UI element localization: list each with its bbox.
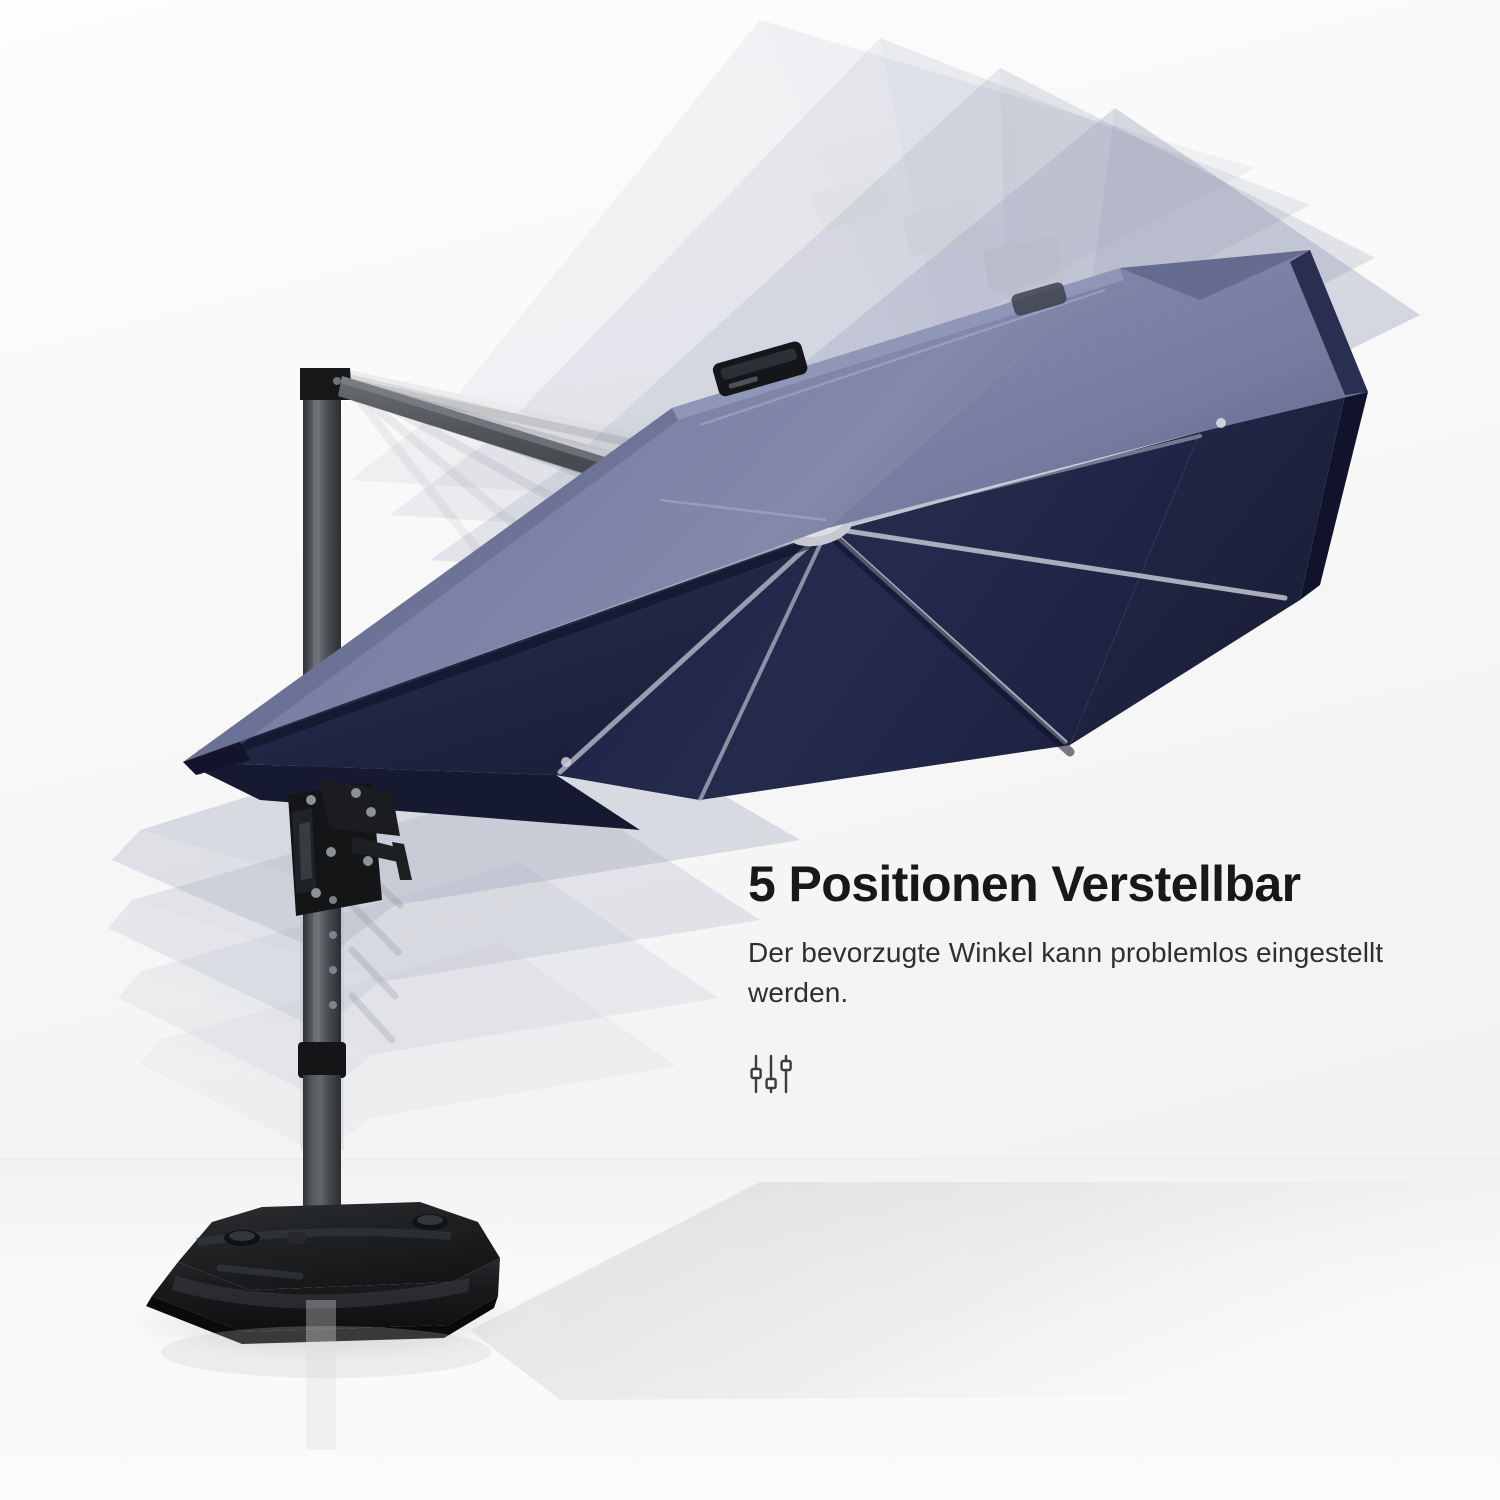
base-lock-knob <box>288 1232 306 1244</box>
mast-reflection <box>306 1300 336 1450</box>
base-fill-cap-right-top <box>417 1215 443 1225</box>
sliders-icon <box>748 1051 794 1097</box>
canopy-screw-right <box>1216 418 1226 428</box>
canopy-screw-left <box>561 757 571 767</box>
mast-top-bolt <box>333 377 341 385</box>
product-feature-banner: 5 Positionen Verstellbar Der bevorzugte … <box>0 0 1500 1500</box>
page-title: 5 Positionen Verstellbar <box>748 858 1468 911</box>
feature-subtitle: Der bevorzugte Winkel kann problemlos ei… <box>748 933 1388 1013</box>
feature-copy-block: 5 Positionen Verstellbar Der bevorzugte … <box>748 858 1468 1097</box>
base-fill-cap-left-top <box>229 1231 255 1241</box>
floor-horizon-line <box>0 1158 1500 1161</box>
product-photo <box>0 0 1500 1500</box>
mast-collar <box>298 1042 346 1078</box>
